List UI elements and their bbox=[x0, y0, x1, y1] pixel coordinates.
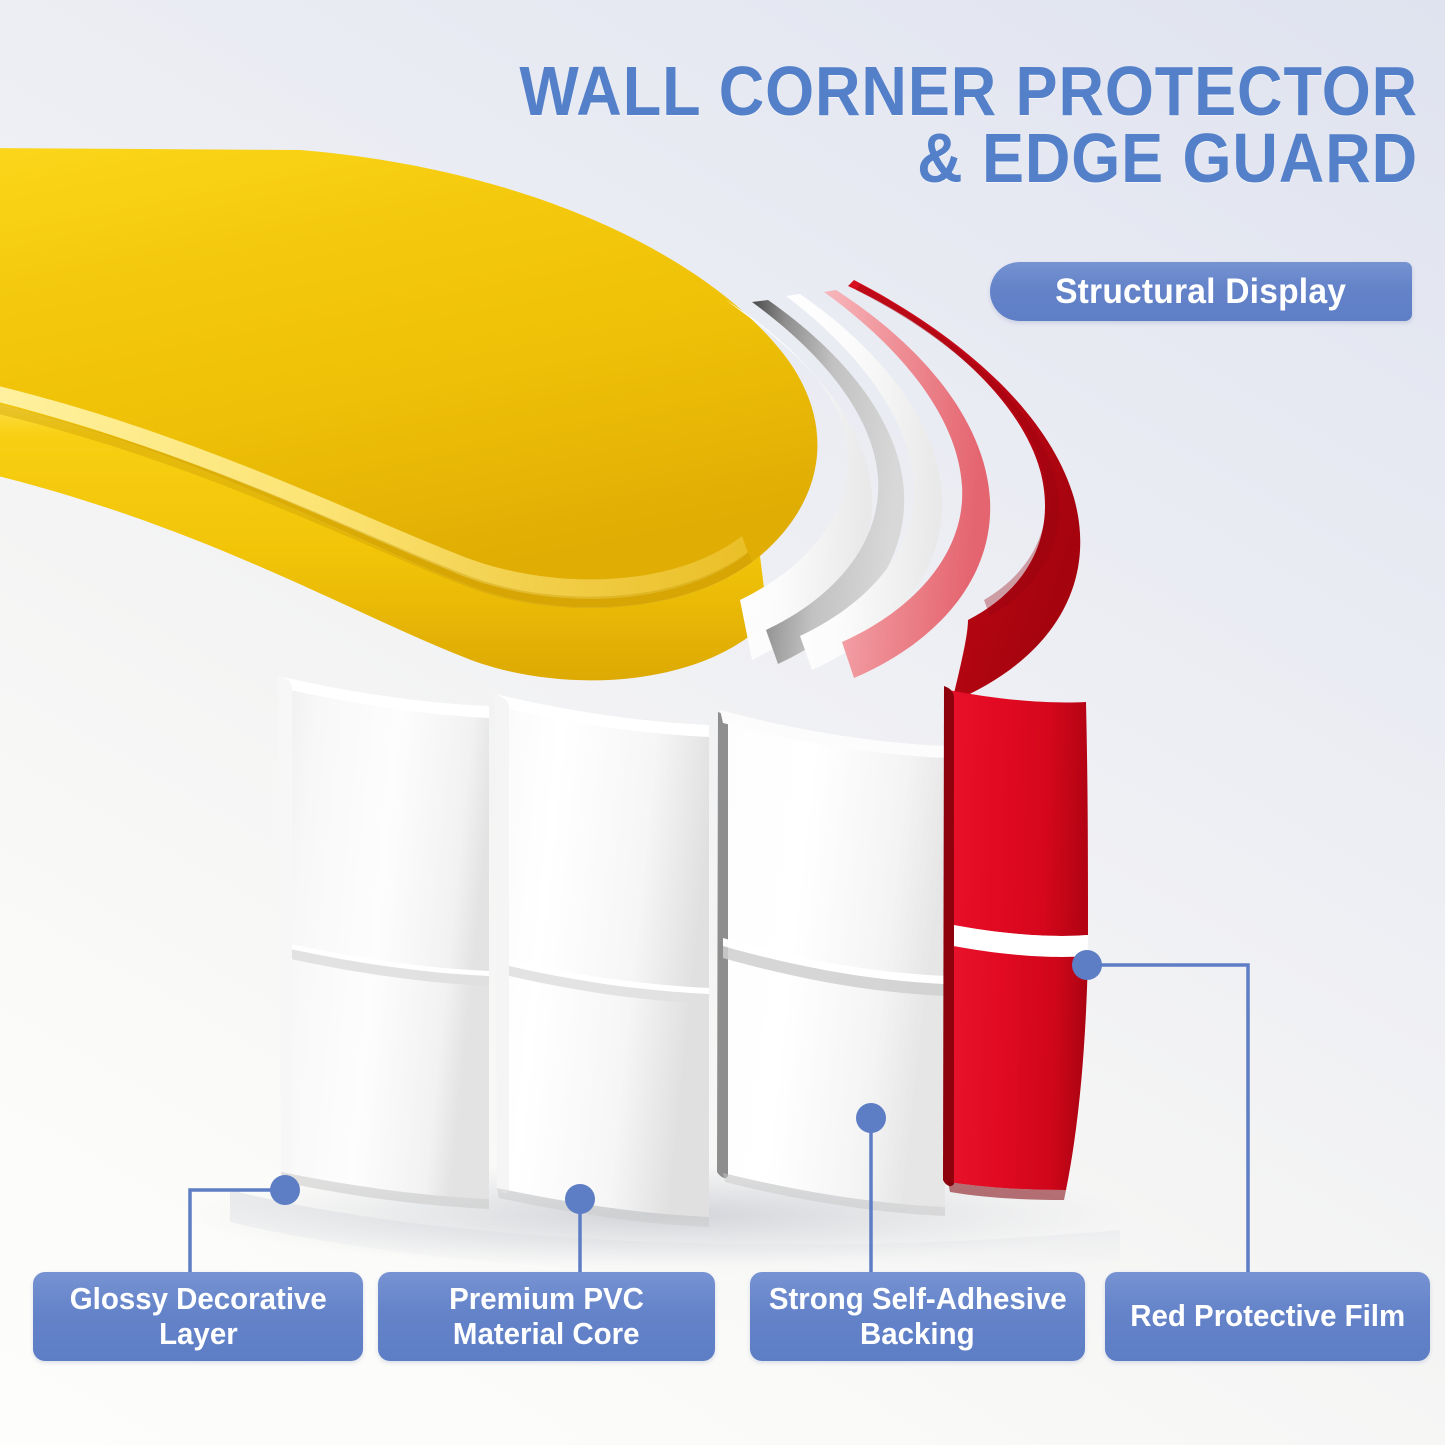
layer-panel-1-left-edge bbox=[278, 676, 292, 1176]
callout-label-line-2: Material Core bbox=[453, 1317, 640, 1352]
callout-label-glossy-decorative-layer: Glossy Decorative Layer bbox=[33, 1272, 363, 1361]
layer-panel-2-left-edge bbox=[495, 694, 509, 1193]
structural-display-badge: Structural Display bbox=[990, 262, 1412, 321]
product-illustration bbox=[0, 0, 1445, 1445]
protective-film-panel-upper bbox=[948, 690, 1088, 936]
infographic-canvas: WALL CORNER PROTECTOR & EDGE GUARD Struc… bbox=[0, 0, 1445, 1445]
callout-label-premium-pvc-material-core: Premium PVC Material Core bbox=[378, 1272, 715, 1361]
callout-label-line-1: Red Protective Film bbox=[1130, 1299, 1405, 1334]
callout-label-line-1: Strong Self-Adhesive bbox=[769, 1282, 1067, 1317]
callout-label-line-1: Glossy Decorative bbox=[69, 1282, 326, 1317]
callout-label-red-protective-film: Red Protective Film bbox=[1105, 1272, 1430, 1361]
protective-film-left-edge bbox=[943, 686, 954, 1186]
callout-label-strong-self-adhesive-backing: Strong Self-Adhesive Backing bbox=[750, 1272, 1085, 1361]
layer-panel-2 bbox=[497, 705, 709, 1217]
protective-film-panel-lower bbox=[948, 945, 1088, 1190]
layer-panel-1 bbox=[281, 687, 489, 1199]
callout-label-line-2: Layer bbox=[159, 1317, 238, 1352]
structural-display-badge-label: Structural Display bbox=[1055, 272, 1346, 312]
callout-label-line-2: Backing bbox=[860, 1317, 975, 1352]
callout-label-line-1: Premium PVC bbox=[449, 1282, 644, 1317]
